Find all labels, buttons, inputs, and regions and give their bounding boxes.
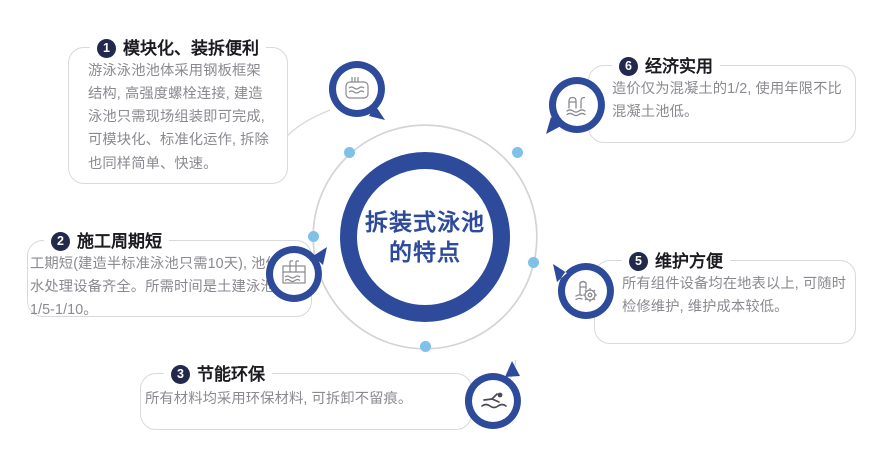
feature-pin-5[interactable] — [557, 262, 615, 320]
orbit-dot-right — [528, 257, 539, 268]
orbit-dot-upper-right — [512, 147, 523, 158]
feature-title-text-1: 模块化、装拆便利 — [123, 40, 259, 57]
feature-title-1: 1 模块化、装拆便利 — [90, 39, 266, 58]
feature-title-text-2: 施工周期短 — [77, 233, 162, 250]
orbit-dot-bottom — [420, 341, 431, 352]
feature-title-text-3: 节能环保 — [197, 366, 265, 383]
feature-title-6: 6 经济实用 — [612, 57, 720, 76]
feature-body-2: 工期短(建造半标准泳池只需10天), 池体、水处理设备齐全。所需时间是土建泳池的… — [30, 253, 295, 322]
feature-number-badge-5: 5 — [629, 252, 648, 271]
feature-body-1: 游泳泳池池体采用钢板框架结构, 高强度螺栓连接, 建造泳池只需现场组装即可完成,… — [88, 60, 273, 176]
feature-title-2: 2 施工周期短 — [44, 232, 169, 251]
infographic-canvas: 拆装式泳池 的特点 1 模块化、装拆便利 游泳泳池池体采用钢板框架结构, 高强度… — [0, 0, 886, 464]
feature-pin-2[interactable] — [265, 245, 323, 303]
feature-number-badge-2: 2 — [51, 232, 70, 251]
feature-title-text-5: 维护方便 — [655, 253, 723, 270]
feature-pin-3[interactable] — [464, 372, 522, 430]
feature-title-text-6: 经济实用 — [645, 58, 713, 75]
orbit-dot-top — [344, 147, 355, 158]
feature-body-6: 造价仅为混凝土的1/2, 使用年限不比混凝土池低。 — [612, 78, 850, 124]
feature-body-5: 所有组件设备均在地表以上, 可随时检修维护, 维护成本较低。 — [622, 273, 850, 319]
feature-number-badge-6: 6 — [619, 57, 638, 76]
feature-title-3: 3 节能环保 — [164, 365, 272, 384]
feature-body-3: 所有材料均采用环保材料, 可拆卸不留痕。 — [145, 388, 465, 411]
orbit-dot-left — [308, 231, 319, 242]
feature-title-5: 5 维护方便 — [622, 252, 730, 271]
feature-number-badge-3: 3 — [171, 365, 190, 384]
feature-pin-6[interactable] — [548, 76, 606, 134]
hub-title: 拆装式泳池 的特点 — [340, 152, 510, 322]
feature-pin-1[interactable] — [328, 60, 386, 118]
feature-number-badge-1: 1 — [97, 39, 116, 58]
hub-title-line1: 拆装式泳池 — [365, 207, 485, 237]
hub-title-line2: 的特点 — [365, 237, 485, 267]
